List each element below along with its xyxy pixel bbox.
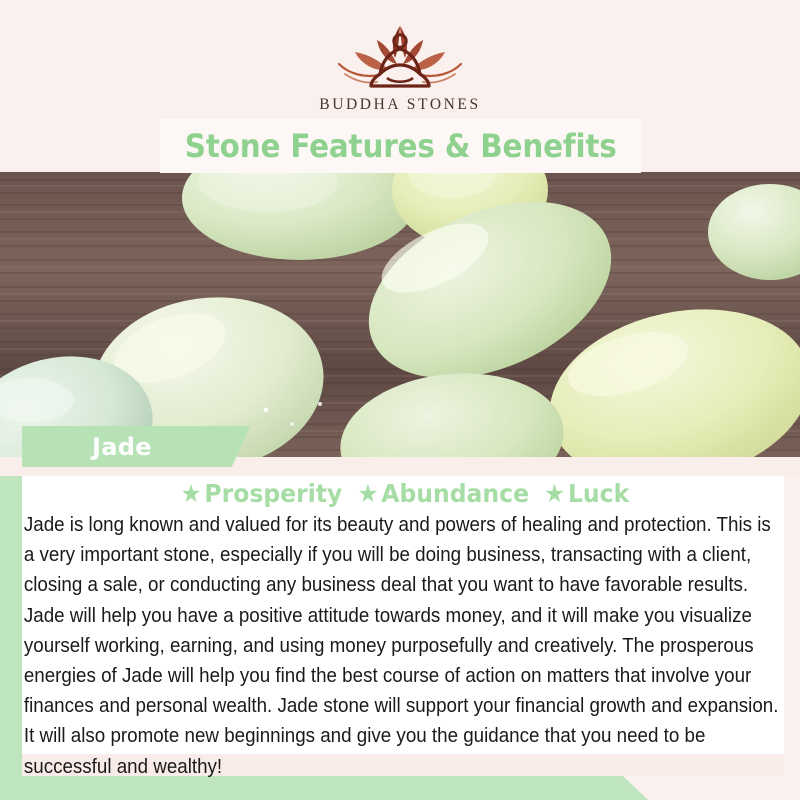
page-title: Stone Features & Benefits [185, 127, 617, 165]
star-icon: ★ [544, 479, 565, 508]
stone-content-panel: ★Prosperity★Abundance★Luck Jade is long … [22, 476, 784, 754]
jade-stones-photo [0, 172, 800, 457]
jade-photo-illustration [0, 172, 800, 457]
star-icon: ★ [181, 479, 202, 508]
benefit-prosperity: Prosperity [204, 479, 342, 508]
star-icon: ★ [357, 479, 378, 508]
benefits-row: ★Prosperity★Abundance★Luck [45, 476, 761, 508]
benefit-abundance: Abundance [381, 479, 529, 508]
benefit-luck: Luck [568, 479, 629, 508]
brand-name: BUDDHA STONES [319, 96, 480, 114]
stone-description: Jade is long known and valued for its be… [22, 510, 788, 782]
title-banner: Stone Features & Benefits [160, 119, 641, 173]
stone-name-banner: Jade [22, 426, 250, 467]
stone-info-poster: BUDDHA STONES Stone Features & Benefits … [0, 0, 800, 800]
lotus-meditation-figure-icon [325, 18, 475, 92]
stone-name-label: Jade [22, 433, 152, 461]
